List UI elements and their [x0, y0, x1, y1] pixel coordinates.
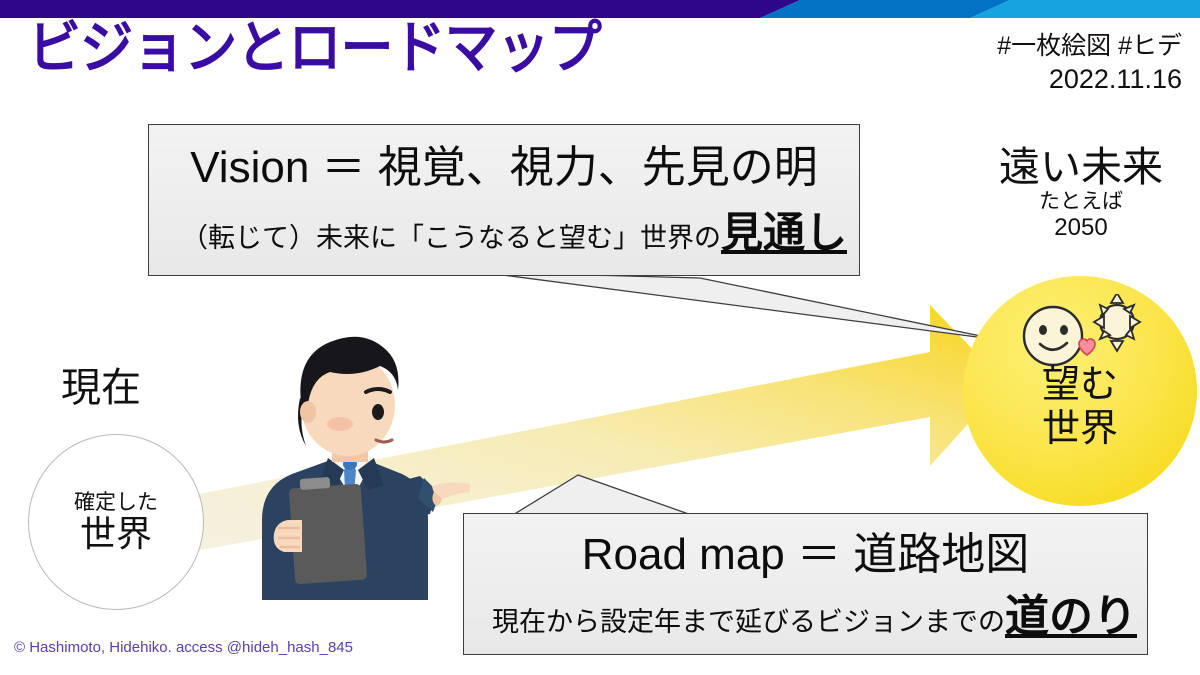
future-circle-text: 望む 世界	[963, 364, 1197, 451]
future-label: 遠い未来	[963, 145, 1199, 190]
roadmap-line2: 現在から設定年まで延びるビジョンまでの道のり	[464, 580, 1137, 644]
sun-icon	[1094, 294, 1140, 351]
roadmap-line2-prefix: 現在から設定年まで延びるビジョンまでの	[492, 607, 1005, 637]
future-example-word: たとえば	[963, 190, 1199, 214]
copyright-footer: © Hashimoto, Hidehiko. access @hideh_has…	[14, 639, 353, 656]
future-label-group: 遠い未来 たとえば 2050	[963, 145, 1199, 242]
smiley-face-icon	[1024, 307, 1082, 365]
roadmap-line2-emphasis: 道のり	[1005, 592, 1137, 641]
future-circle-line1: 望む	[963, 364, 1197, 408]
future-circle: 望む 世界	[963, 276, 1197, 506]
roadmap-definition-box: Road map ＝ 道路地図 現在から設定年まで延びるビジョンまでの道のり	[463, 513, 1148, 655]
slide-canvas: ビジョンとロードマップ #一枚絵図 #ヒデ 2022.11.16 現在 確定した	[0, 0, 1200, 675]
future-circle-icons	[1011, 294, 1161, 372]
future-year: 2050	[963, 214, 1199, 242]
heart-icon	[1079, 339, 1095, 355]
roadmap-line1: Road map ＝ 道路地図	[464, 518, 1147, 582]
future-circle-line2: 世界	[963, 408, 1197, 452]
